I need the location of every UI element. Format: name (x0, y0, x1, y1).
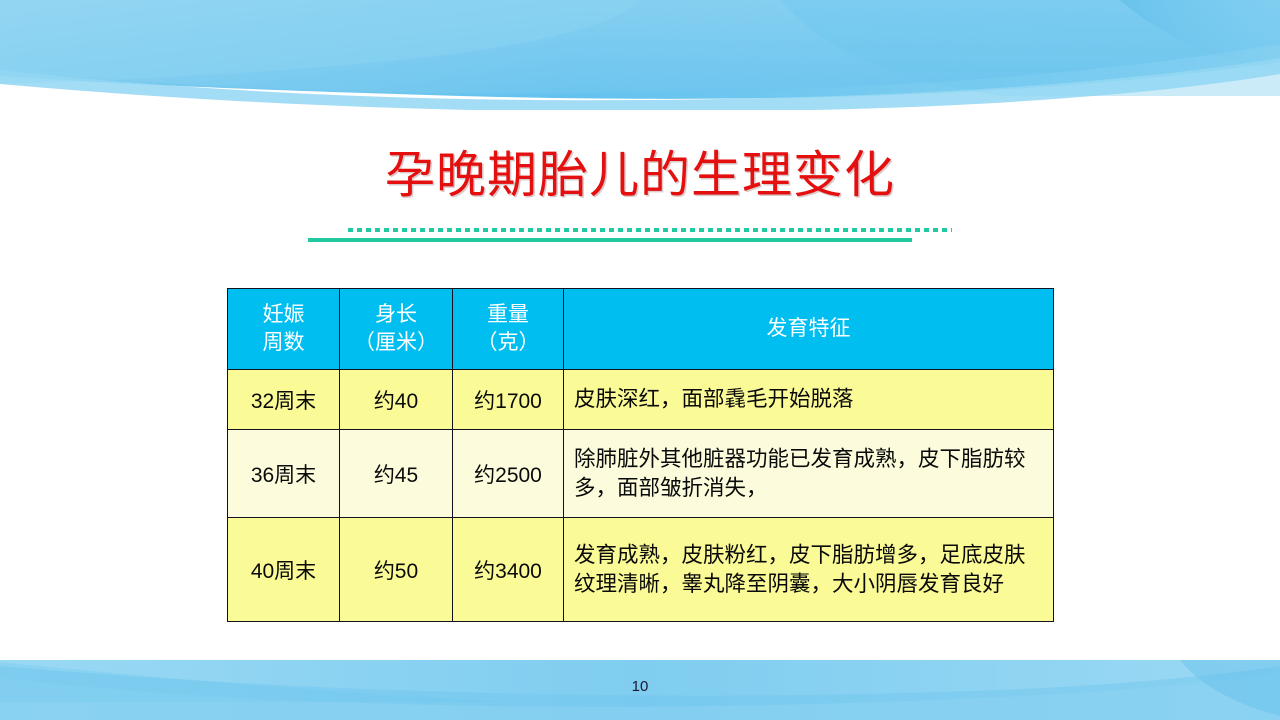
title-underline-decoration (0, 228, 1280, 246)
cell-features: 除肺脏外其他脏器功能已发育成熟，皮下脂肪较多，面部皱折消失， (564, 430, 1054, 518)
header-line-2: 周数 (228, 329, 339, 357)
title-block: 孕晚期胎儿的生理变化 (0, 146, 1280, 205)
cell-length: 约40 (340, 370, 453, 430)
slide-canvas: 孕晚期胎儿的生理变化 妊娠 周数 身长 （厘米） 重量 （克） (0, 0, 1280, 720)
table-row: 36周末 约45 约2500 除肺脏外其他脏器功能已发育成熟，皮下脂肪较多，面部… (228, 430, 1054, 518)
cell-week: 36周末 (228, 430, 340, 518)
table-row: 32周末 约40 约1700 皮肤深红，面部毳毛开始脱落 (228, 370, 1054, 430)
column-header-length: 身长 （厘米） (340, 289, 453, 370)
solid-rule (308, 238, 912, 242)
header-line-1: 重量 (453, 301, 563, 329)
column-header-gestational-week: 妊娠 周数 (228, 289, 340, 370)
table-body: 32周末 约40 约1700 皮肤深红，面部毳毛开始脱落 36周末 约45 约2… (228, 370, 1054, 622)
cell-weight: 约2500 (453, 430, 564, 518)
column-header-features: 发育特征 (564, 289, 1054, 370)
cell-features: 发育成熟，皮肤粉红，皮下脂肪增多，足底皮肤纹理清晰，睾丸降至阴囊，大小阴唇发育良… (564, 518, 1054, 622)
header-line-1: 发育特征 (564, 315, 1053, 343)
header-line-2: （克） (453, 329, 563, 357)
dotted-rule (348, 228, 952, 232)
page-number: 10 (0, 678, 1280, 695)
fetal-development-table: 妊娠 周数 身长 （厘米） 重量 （克） 发育特征 32周末 约40 (227, 288, 1054, 622)
table-header-row: 妊娠 周数 身长 （厘米） 重量 （克） 发育特征 (228, 289, 1054, 370)
cell-length: 约45 (340, 430, 453, 518)
cell-features: 皮肤深红，面部毳毛开始脱落 (564, 370, 1054, 430)
table-row: 40周末 约50 约3400 发育成熟，皮肤粉红，皮下脂肪增多，足底皮肤纹理清晰… (228, 518, 1054, 622)
cell-week: 40周末 (228, 518, 340, 622)
header-line-2: （厘米） (340, 329, 452, 357)
cell-length: 约50 (340, 518, 453, 622)
cell-week: 32周末 (228, 370, 340, 430)
cell-weight: 约3400 (453, 518, 564, 622)
header-line-1: 妊娠 (228, 301, 339, 329)
table-header: 妊娠 周数 身长 （厘米） 重量 （克） 发育特征 (228, 289, 1054, 370)
top-banner-decoration (0, 0, 1280, 110)
page-title: 孕晚期胎儿的生理变化 (0, 146, 1280, 205)
header-line-1: 身长 (340, 301, 452, 329)
column-header-weight: 重量 （克） (453, 289, 564, 370)
cell-weight: 约1700 (453, 370, 564, 430)
